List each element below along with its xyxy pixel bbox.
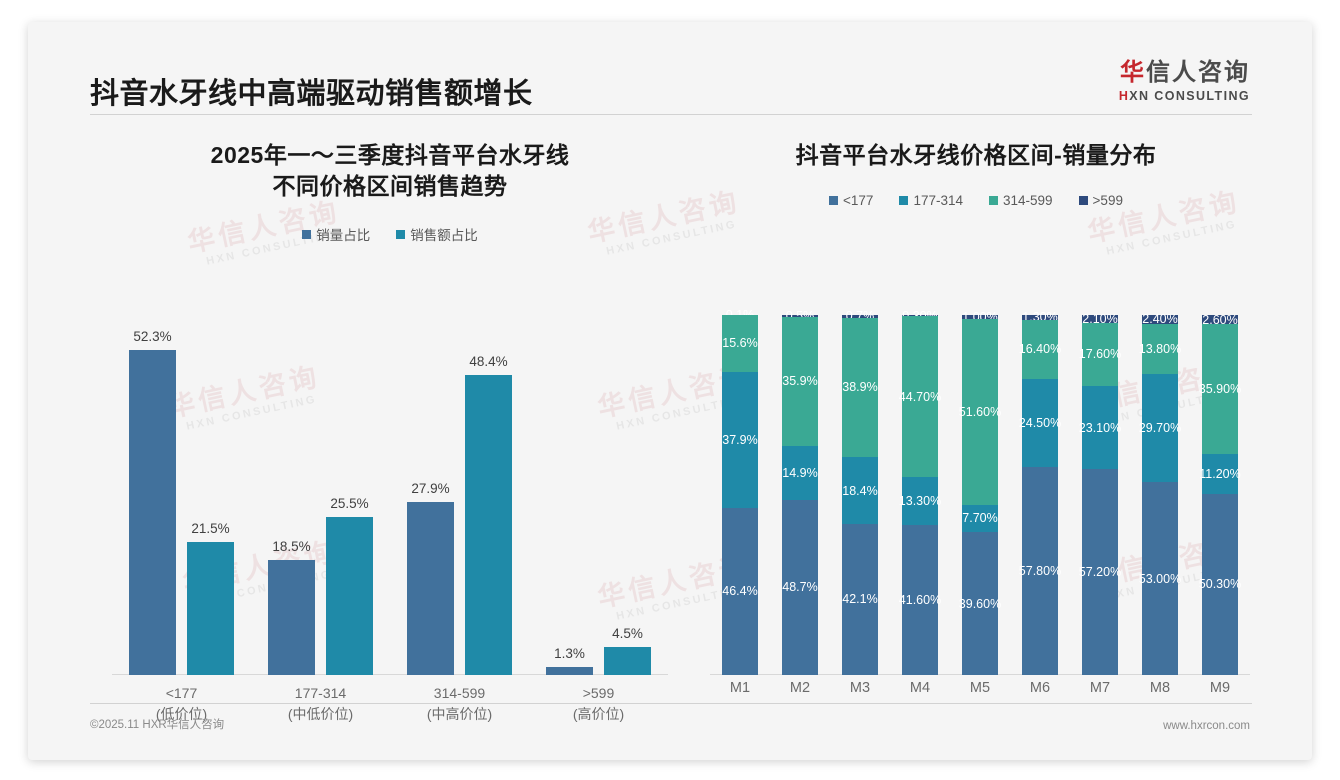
left-chart-panel: 2025年一～三季度抖音平台水牙线 不同价格区间销售趋势 销量占比销售额占比 5… (90, 140, 690, 710)
segment-value-label: 57.80% (1019, 564, 1061, 578)
bar[interactable] (187, 542, 234, 675)
category-label: M8 (1130, 680, 1190, 696)
stacked-bar-segment[interactable]: 13.30% (902, 477, 938, 525)
stacked-bar-segment[interactable]: 7.70% (962, 505, 998, 533)
stacked-bar-segment[interactable]: 2.40% (1142, 315, 1178, 324)
stacked-bar-segment[interactable]: 44.70% (902, 316, 938, 477)
stacked-bar-segment[interactable]: 16.40% (1022, 320, 1058, 379)
category-label-main: 314-599 (390, 683, 529, 704)
bar[interactable] (546, 667, 593, 675)
legend-swatch-icon (1079, 196, 1088, 205)
bar[interactable] (326, 517, 373, 675)
logo-cn-gray: 信人咨询 (1146, 59, 1250, 86)
stacked-bar-segment[interactable]: 2.60% (1202, 315, 1238, 324)
bar-value-label: 27.9% (411, 481, 449, 496)
bar-value-label: 18.5% (272, 539, 310, 554)
legend-item[interactable]: 销售额占比 (396, 224, 478, 244)
bar-column[interactable]: 25.5% (326, 315, 373, 675)
stacked-bar-segment[interactable]: 29.70% (1142, 374, 1178, 482)
stacked-bar[interactable]: 1.30%16.40%24.50%57.80% (1022, 315, 1058, 675)
segment-value-label: 13.30% (899, 494, 941, 508)
category-label: M3 (830, 680, 890, 696)
segment-value-label: 35.9% (782, 374, 817, 388)
logo-en-red: H (1119, 89, 1129, 103)
stacked-bar-segment[interactable]: 48.7% (782, 500, 818, 675)
stacked-bar-segment[interactable]: 57.80% (1022, 467, 1058, 675)
stacked-bar[interactable]: 2.40%13.80%29.70%53.00% (1142, 315, 1178, 675)
bar-group: 27.9%48.4% (390, 315, 529, 675)
legend-item[interactable]: 177-314 (899, 193, 963, 208)
category-label: M7 (1070, 680, 1130, 696)
legend-swatch-icon (899, 196, 908, 205)
segment-value-label: 15.6% (722, 336, 757, 350)
stacked-bar-segment[interactable]: 39.60% (962, 532, 998, 675)
segment-value-label: 16.40% (1019, 342, 1061, 356)
left-chart-title: 2025年一～三季度抖音平台水牙线 不同价格区间销售趋势 (90, 140, 690, 202)
bar[interactable] (407, 502, 454, 675)
stacked-bar-segment[interactable]: 11.20% (1202, 454, 1238, 494)
legend-label: 销售额占比 (410, 224, 478, 244)
legend-swatch-icon (829, 196, 838, 205)
category-label: 314-599(中高价位) (390, 683, 529, 725)
stacked-bar-segment[interactable]: 35.9% (782, 317, 818, 446)
legend-swatch-icon (989, 196, 998, 205)
left-chart-title-line1: 2025年一～三季度抖音平台水牙线 (90, 140, 690, 171)
bar-column[interactable]: 52.3% (129, 315, 176, 675)
category-label-sub: (中低价位) (251, 704, 390, 725)
bar-group: 52.3%21.5% (112, 315, 251, 675)
bar-value-label: 25.5% (330, 496, 368, 511)
stacked-bar-segment[interactable]: 50.30% (1202, 494, 1238, 675)
bar-value-label: 21.5% (191, 521, 229, 536)
stacked-bar-segment[interactable]: 14.9% (782, 446, 818, 500)
bar-value-label: 1.3% (554, 646, 585, 661)
stacked-bar[interactable]: 0.5%35.9%14.9%48.7% (782, 315, 818, 675)
category-label: M4 (890, 680, 950, 696)
legend-item[interactable]: >599 (1079, 193, 1123, 208)
segment-value-label: 57.20% (1079, 565, 1121, 579)
stacked-bar-segment[interactable]: 42.1% (842, 524, 878, 675)
bar-value-label: 48.4% (469, 354, 507, 369)
legend-item[interactable]: 销量占比 (302, 224, 370, 244)
stacked-bar-segment[interactable]: 18.4% (842, 457, 878, 523)
stacked-bar-segment[interactable]: 2.10% (1082, 315, 1118, 323)
stacked-bar-segment[interactable]: 53.00% (1142, 482, 1178, 675)
legend-label: 314-599 (1003, 193, 1053, 208)
bar-group: 18.5%25.5% (251, 315, 390, 675)
right-chart-title: 抖音平台水牙线价格区间-销量分布 (700, 140, 1252, 171)
stacked-bar[interactable]: 2.60%35.90%11.20%50.30% (1202, 315, 1238, 675)
logo-english-text: HXN CONSULTING (1119, 89, 1250, 103)
legend-item[interactable]: 314-599 (989, 193, 1053, 208)
segment-value-label: 39.60% (959, 597, 1001, 611)
bar-column[interactable]: 27.9% (407, 315, 454, 675)
logo-chinese-text: 华信人咨询 (1119, 60, 1250, 86)
left-chart-plot: 52.3%21.5%18.5%25.5%27.9%48.4%1.3%4.5% (112, 315, 668, 675)
legend-swatch-icon (396, 230, 405, 239)
stacked-bar-segment[interactable]: 17.60% (1082, 323, 1118, 386)
footer-copyright: ©2025.11 HXR华信人咨询 (90, 716, 224, 732)
stacked-bar-segment[interactable]: 57.20% (1082, 469, 1118, 675)
segment-value-label: 35.90% (1199, 382, 1241, 396)
stacked-bar-segment[interactable]: 13.80% (1142, 324, 1178, 374)
segment-value-label: 44.70% (899, 390, 941, 404)
segment-value-label: 37.9% (722, 433, 757, 447)
segment-value-label: 17.60% (1079, 347, 1121, 361)
category-label-main: 177-314 (251, 683, 390, 704)
legend-label: <177 (843, 193, 873, 208)
stacked-bar[interactable]: 1.00%51.60%7.70%39.60% (962, 315, 998, 675)
segment-value-label: 29.70% (1139, 421, 1181, 435)
stacked-bar-segment[interactable]: 41.60% (902, 525, 938, 675)
category-label: M9 (1190, 680, 1250, 696)
segment-value-label: 18.4% (842, 484, 877, 498)
segment-value-label: 13.80% (1139, 342, 1181, 356)
category-label: >599(高价位) (529, 683, 668, 725)
stacked-bar-segment[interactable]: 46.4% (722, 508, 758, 675)
segment-value-label: 48.7% (782, 580, 817, 594)
stacked-bar-segment[interactable]: 24.50% (1022, 379, 1058, 467)
stacked-bar[interactable]: 0.1%15.6%37.9%46.4% (722, 315, 758, 675)
header-divider (90, 114, 1252, 115)
bar-group: 1.3%4.5% (529, 315, 668, 675)
footer-website: www.hxrcon.com (1163, 720, 1250, 732)
legend-label: 177-314 (913, 193, 963, 208)
category-label: M2 (770, 680, 830, 696)
legend-label: 销量占比 (316, 224, 370, 244)
right-chart-panel: 抖音平台水牙线价格区间-销量分布 <177177-314314-599>599 … (700, 140, 1252, 710)
category-label-main: <177 (112, 683, 251, 704)
slide-canvas: 抖音水牙线中高端驱动销售额增长 华信人咨询 HXN CONSULTING 华信人… (28, 22, 1312, 760)
legend-item[interactable]: <177 (829, 193, 873, 208)
segment-value-label: 51.60% (959, 405, 1001, 419)
bar[interactable] (129, 350, 176, 675)
bar[interactable] (268, 560, 315, 675)
footer-divider (90, 703, 1252, 704)
bar-column[interactable]: 1.3% (546, 315, 593, 675)
right-chart-legend: <177177-314314-599>599 (700, 193, 1252, 208)
bar-value-label: 52.3% (133, 329, 171, 344)
segment-value-label: 38.9% (842, 380, 877, 394)
legend-label: >599 (1093, 193, 1123, 208)
right-chart-plot: 0.1%15.6%37.9%46.4%0.5%35.9%14.9%48.7%0.… (710, 315, 1250, 675)
page-title: 抖音水牙线中高端驱动销售额增长 (90, 70, 533, 112)
stacked-bar[interactable]: 0.7%38.9%18.4%42.1% (842, 315, 878, 675)
segment-value-label: 11.20% (1199, 467, 1240, 481)
segment-value-label: 7.70% (962, 511, 997, 525)
bar[interactable] (465, 375, 512, 675)
slide-header: 抖音水牙线中高端驱动销售额增长 华信人咨询 HXN CONSULTING (28, 22, 1312, 114)
stacked-bar-segment[interactable]: 38.9% (842, 318, 878, 458)
segment-value-label: 41.60% (899, 593, 941, 607)
segment-value-label: 23.10% (1079, 421, 1121, 435)
category-label: M6 (1010, 680, 1070, 696)
segment-value-label: 46.4% (722, 584, 757, 598)
category-label-sub: (高价位) (529, 704, 668, 725)
legend-swatch-icon (302, 230, 311, 239)
segment-value-label: 53.00% (1139, 572, 1181, 586)
stacked-bar-segment[interactable]: 37.9% (722, 372, 758, 508)
category-label: 177-314(中低价位) (251, 683, 390, 725)
logo-en-gray: XN CONSULTING (1129, 89, 1250, 103)
category-label: M5 (950, 680, 1010, 696)
bar-column[interactable]: 48.4% (465, 315, 512, 675)
bar-column[interactable]: 4.5% (604, 315, 651, 675)
stacked-bar-segment[interactable]: 23.10% (1082, 386, 1118, 469)
company-logo: 华信人咨询 HXN CONSULTING (1119, 60, 1250, 103)
segment-value-label: 42.1% (842, 592, 877, 606)
stacked-bar[interactable]: 0.30%44.70%13.30%41.60% (902, 315, 938, 675)
stacked-bar-segment[interactable]: 15.6% (722, 315, 758, 371)
bar-column[interactable]: 21.5% (187, 315, 234, 675)
category-label-main: >599 (529, 683, 668, 704)
category-label-sub: (中高价位) (390, 704, 529, 725)
stacked-bar-segment[interactable]: 35.90% (1202, 324, 1238, 453)
logo-cn-red: 华 (1120, 59, 1146, 86)
category-label: M1 (710, 680, 770, 696)
bar-column[interactable]: 18.5% (268, 315, 315, 675)
bar[interactable] (604, 647, 651, 675)
segment-value-label: 24.50% (1019, 416, 1061, 430)
left-chart-legend: 销量占比销售额占比 (90, 224, 690, 244)
stacked-bar-segment[interactable]: 51.60% (962, 319, 998, 505)
left-chart-title-line2: 不同价格区间销售趋势 (90, 171, 690, 202)
segment-value-label: 14.9% (782, 466, 817, 480)
segment-value-label: 50.30% (1199, 577, 1241, 591)
bar-value-label: 4.5% (612, 626, 643, 641)
stacked-bar[interactable]: 2.10%17.60%23.10%57.20% (1082, 315, 1118, 675)
